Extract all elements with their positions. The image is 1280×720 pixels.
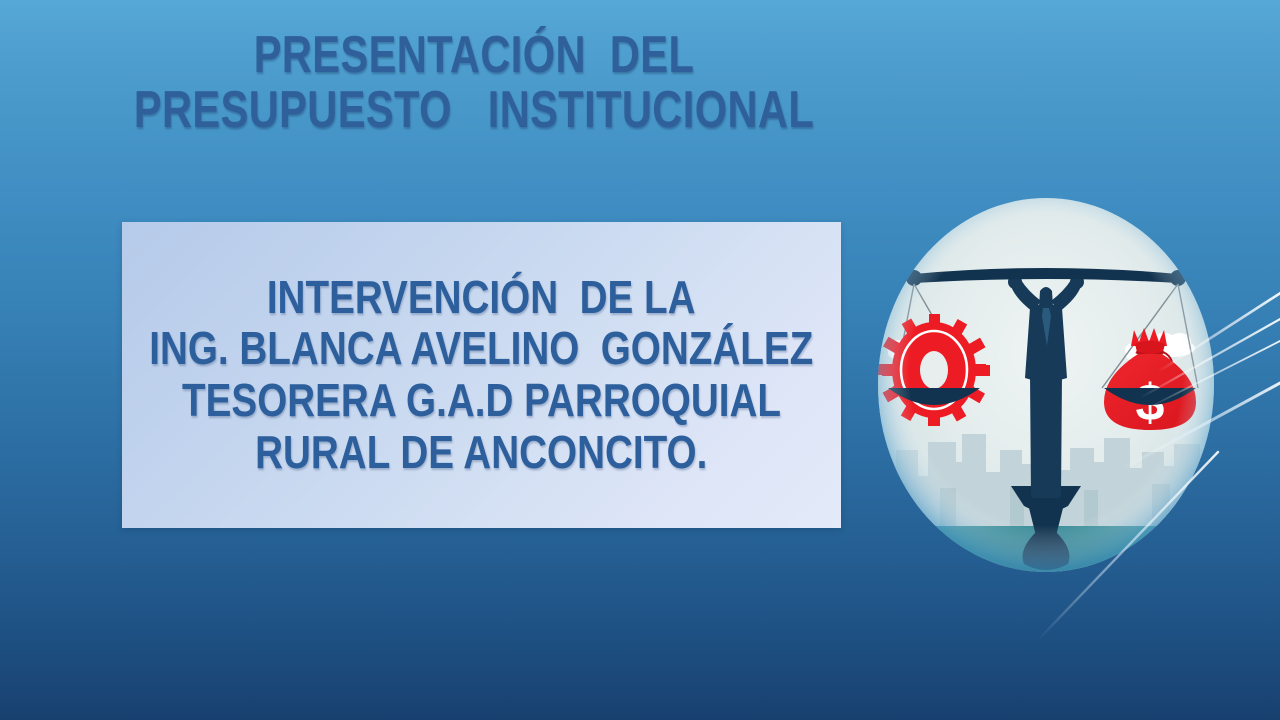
- body-line-3: TESORERA G.A.D PARROQUIAL: [182, 375, 781, 427]
- slide-title: PRESENTACIÓN DEL PRESUPUESTO INSTITUCION…: [0, 28, 948, 138]
- body-line-4: RURAL DE ANCONCITO.: [255, 427, 707, 479]
- illustration-circle: $: [878, 198, 1214, 572]
- body-text-box: INTERVENCIÓN DE LA ING. BLANCA AVELINO G…: [122, 222, 841, 528]
- title-line-2: PRESUPUESTO INSTITUCIONAL: [95, 83, 853, 138]
- title-line-1: PRESENTACIÓN DEL: [95, 28, 853, 83]
- body-line-2: ING. BLANCA AVELINO GONZÁLEZ: [149, 323, 813, 375]
- body-line-1: INTERVENCIÓN DE LA: [267, 272, 696, 324]
- balance-scale-illustration: $: [878, 198, 1214, 572]
- presentation-slide: PRESENTACIÓN DEL PRESUPUESTO INSTITUCION…: [0, 0, 1280, 720]
